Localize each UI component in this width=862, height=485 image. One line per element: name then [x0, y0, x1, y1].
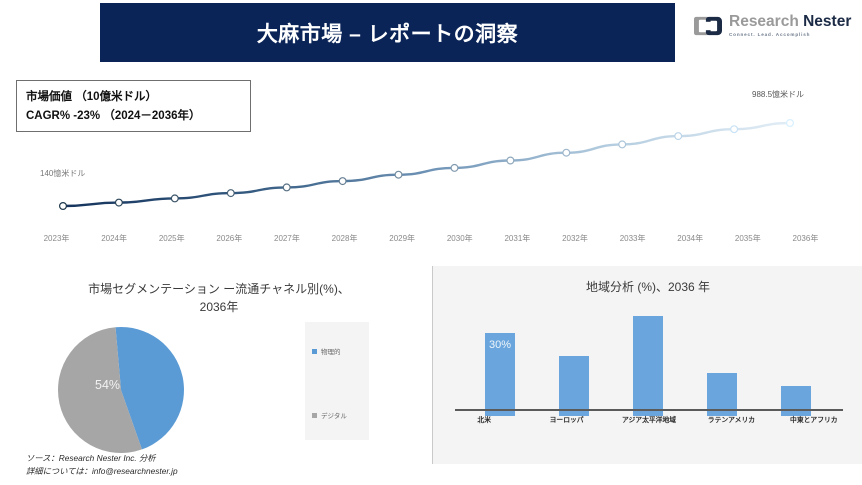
- slide-root: 大麻市場 – レポートの洞察 Research Nester Connect. …: [0, 0, 862, 485]
- bar-chart-x-tick: 中東とアフリカ: [773, 414, 855, 424]
- pie-chart-legend: 物理的 デジタル: [305, 322, 369, 440]
- contact-line: 詳細については：info@researchnester.jp: [26, 465, 178, 478]
- market-value-info-box: 市場価値 （10億米ドル） CAGR% -23% （2024－2036年）: [16, 80, 251, 132]
- logo-name-research: Research: [729, 13, 799, 30]
- bar-chart-baseline: [455, 409, 843, 411]
- market-value-line: 市場価値 （10億米ドル）: [26, 88, 241, 107]
- line-chart-x-tick: 2034年: [662, 233, 719, 244]
- line-chart-x-tick: 2035年: [719, 233, 776, 244]
- research-nester-logo-icon: [694, 14, 722, 38]
- bar-value-label: 30%: [485, 339, 515, 351]
- source-line: ソース：Research Nester Inc. 分析: [26, 452, 178, 465]
- logo-tagline: Connect. Lead. Accomplish: [729, 33, 851, 38]
- line-chart-x-tick: 2023年: [28, 233, 85, 244]
- logo-text: Research Nester Connect. Lead. Accomplis…: [729, 14, 851, 37]
- cagr-line: CAGR% -23% （2024－2036年）: [26, 107, 241, 126]
- bar-chart-x-tick: 北米: [443, 414, 525, 424]
- pie-slice-label: 54%: [95, 378, 120, 392]
- line-data-point[interactable]: [451, 165, 458, 172]
- line-data-point[interactable]: [339, 178, 346, 185]
- line-chart-x-axis: 2023年2024年2025年2026年2027年2028年2029年2030年…: [28, 233, 834, 244]
- line-chart-x-tick: 2027年: [258, 233, 315, 244]
- pie-chart-svg: [57, 326, 185, 454]
- brand-logo[interactable]: Research Nester Connect. Lead. Accomplis…: [694, 14, 851, 38]
- bar-chart-x-axis: 北米ヨーロッパアジア太平洋地域ラテンアメリカ中東とアフリカ: [443, 414, 855, 424]
- bar-chart-plot: 30%: [463, 316, 833, 416]
- header-bar: 大麻市場 – レポートの洞察: [100, 3, 675, 62]
- page-title: 大麻市場 – レポートの洞察: [257, 18, 518, 48]
- bar-column[interactable]: 30%: [485, 333, 515, 416]
- legend-item-physical[interactable]: 物理的: [312, 346, 341, 356]
- line-data-point[interactable]: [116, 199, 123, 206]
- legend-label-physical: 物理的: [321, 346, 341, 356]
- line-chart-start-annotation: 140憶米ドル: [40, 168, 85, 179]
- line-data-point[interactable]: [395, 171, 402, 178]
- line-data-point[interactable]: [283, 184, 290, 191]
- regional-analysis-panel: 地域分析 (%)、2036 年 30% 北米ヨーロッパアジア太平洋地域ラテンアメ…: [432, 266, 862, 464]
- logo-name: Research Nester: [729, 14, 851, 30]
- bar-chart-x-tick: ラテンアメリカ: [690, 414, 772, 424]
- line-data-point[interactable]: [675, 133, 682, 140]
- line-chart-x-tick: 2031年: [489, 233, 546, 244]
- legend-label-digital: デジタル: [321, 410, 347, 420]
- bar-column[interactable]: [781, 386, 811, 416]
- pie-title-line1: 市場セグメンテーション ー流通チャネル別(%)、: [24, 280, 414, 298]
- line-chart-x-tick: 2030年: [431, 233, 488, 244]
- source-note: ソース：Research Nester Inc. 分析 詳細については：info…: [26, 452, 178, 478]
- line-chart-x-tick: 2026年: [201, 233, 258, 244]
- bar-chart-title: 地域分析 (%)、2036 年: [433, 278, 862, 295]
- line-data-point[interactable]: [60, 203, 67, 210]
- legend-swatch-physical: [312, 349, 317, 354]
- legend-item-digital[interactable]: デジタル: [312, 410, 347, 420]
- legend-swatch-digital: [312, 413, 317, 418]
- bar-chart-x-tick: ヨーロッパ: [525, 414, 607, 424]
- pie-chart-title: 市場セグメンテーション ー流通チャネル別(%)、 2036年: [24, 280, 414, 316]
- line-data-point[interactable]: [227, 190, 234, 197]
- pie-chart-graphic: 54%: [57, 326, 185, 454]
- bar-column[interactable]: [633, 316, 663, 416]
- line-data-point[interactable]: [507, 157, 514, 164]
- line-chart-x-tick: 2028年: [316, 233, 373, 244]
- line-chart-x-tick: 2025年: [143, 233, 200, 244]
- line-data-point[interactable]: [171, 195, 178, 202]
- pie-title-line2: 2036年: [24, 298, 414, 316]
- line-data-point[interactable]: [731, 126, 738, 133]
- line-chart-x-tick: 2032年: [546, 233, 603, 244]
- line-data-point[interactable]: [787, 120, 794, 127]
- line-chart-x-tick: 2024年: [86, 233, 143, 244]
- line-chart-x-tick: 2029年: [374, 233, 431, 244]
- logo-name-nester: Nester: [803, 13, 851, 30]
- line-chart-x-tick: 2033年: [604, 233, 661, 244]
- bar-column[interactable]: [559, 356, 589, 416]
- bar-chart-x-tick: アジア太平洋地域: [608, 414, 690, 424]
- line-data-point[interactable]: [563, 149, 570, 156]
- line-chart-x-tick: 2036年: [777, 233, 834, 244]
- line-data-point[interactable]: [619, 141, 626, 148]
- line-chart-end-annotation: 988.5憶米ドル: [752, 89, 804, 100]
